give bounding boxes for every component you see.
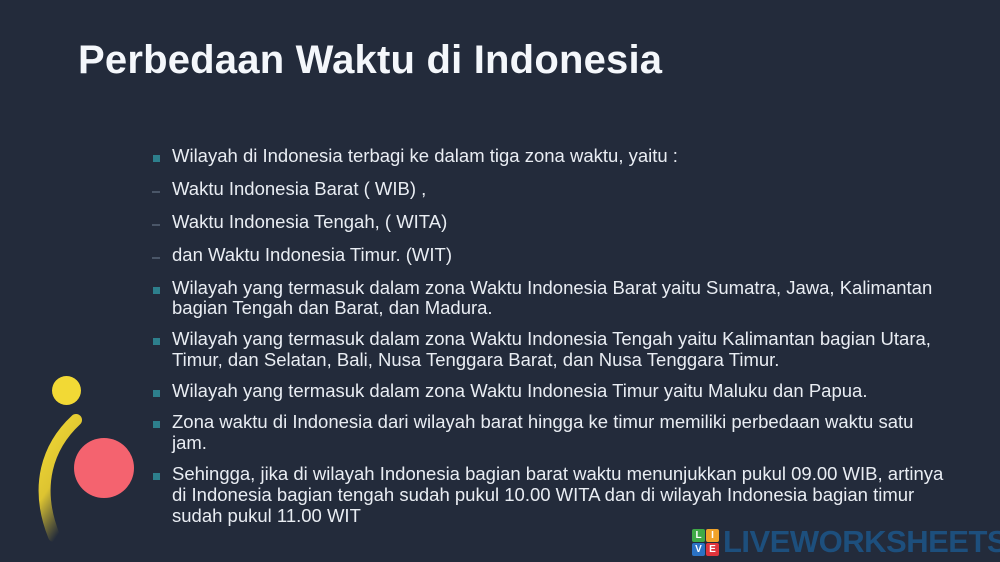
list-item-text: dan Waktu Indonesia Timur. (WIT)	[172, 245, 950, 266]
slide-canvas: Perbedaan Waktu di Indonesia Wilayah di …	[0, 0, 1000, 562]
logo-tile-e: E	[706, 543, 719, 556]
logo-tile-v: V	[692, 543, 705, 556]
list-item-text: Wilayah yang termasuk dalam zona Waktu I…	[172, 381, 950, 402]
bullet-list: Wilayah di Indonesia terbagi ke dalam ti…	[150, 146, 950, 526]
list-item-text: Wilayah yang termasuk dalam zona Waktu I…	[172, 278, 950, 320]
list-item: dan Waktu Indonesia Timur. (WIT)	[150, 245, 950, 266]
decorative-yellow-circle	[52, 376, 81, 405]
list-item: Wilayah yang termasuk dalam zona Waktu I…	[150, 329, 950, 371]
list-item: Wilayah yang termasuk dalam zona Waktu I…	[150, 278, 950, 320]
live-logo-icon: L I V E	[692, 529, 719, 556]
list-item: Zona waktu di Indonesia dari wilayah bar…	[150, 412, 950, 454]
list-item-text: Wilayah yang termasuk dalam zona Waktu I…	[172, 329, 950, 371]
liveworksheets-watermark: L I V E LIVEWORKSHEETS	[692, 528, 1000, 556]
watermark-text: LIVEWORKSHEETS	[723, 528, 1000, 556]
list-item: Sehingga, jika di wilayah Indonesia bagi…	[150, 464, 950, 527]
list-item-text: Zona waktu di Indonesia dari wilayah bar…	[172, 412, 950, 454]
logo-tile-i: I	[706, 529, 719, 542]
list-item: Waktu Indonesia Tengah, ( WITA)	[150, 212, 950, 233]
list-item: Wilayah yang termasuk dalam zona Waktu I…	[150, 381, 950, 402]
list-item: Waktu Indonesia Barat ( WIB) ,	[150, 179, 950, 200]
list-item-text: Waktu Indonesia Barat ( WIB) ,	[172, 179, 950, 200]
logo-tile-l: L	[692, 529, 705, 542]
list-item-text: Sehingga, jika di wilayah Indonesia bagi…	[172, 464, 950, 527]
decorative-yellow-arc-icon	[14, 412, 134, 552]
list-item: Wilayah di Indonesia terbagi ke dalam ti…	[150, 146, 950, 167]
list-item-text: Waktu Indonesia Tengah, ( WITA)	[172, 212, 950, 233]
page-title: Perbedaan Waktu di Indonesia	[78, 38, 662, 83]
list-item-text: Wilayah di Indonesia terbagi ke dalam ti…	[172, 146, 950, 167]
